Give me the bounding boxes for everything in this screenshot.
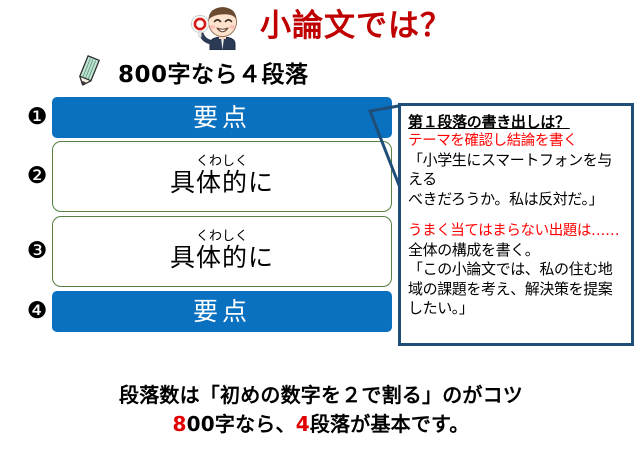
caption-line-1: 段落数は「初めの数字を２で割る」のがコツ (0, 381, 642, 410)
callout-spacer (408, 209, 626, 222)
subtitle-text: 800字なら４段落 (118, 55, 309, 89)
callout-red-note-1: テーマを確認し結論を書く (408, 132, 626, 151)
box-main-label: 具体的に (170, 244, 274, 273)
box-sub-label: くわしく (196, 230, 248, 244)
box-main-label: 具体的に (170, 169, 274, 198)
explanation-callout-box: 第１段落の書き出しは？ テーマを確認し結論を書く 「小学生にスマートフォンを与え… (398, 103, 634, 346)
row-number-badge: ❷ (22, 165, 52, 188)
structure-row-3: ❸ くわしく 具体的に (22, 216, 392, 287)
callout-red-note-2: うまく当てはまらない出題は…… (408, 222, 626, 241)
row-number-badge: ❹ (22, 300, 52, 323)
callout-quote-1-line-1: 「小学生にスマートフォンを与える (408, 151, 626, 190)
callout-heading: 第１段落の書き出しは？ (408, 113, 626, 132)
structure-row-2: ❷ くわしく 具体的に (22, 141, 392, 212)
row-number-badge: ❸ (22, 240, 52, 263)
structure-box-main-point-1[interactable]: 要点 (52, 97, 392, 138)
subtitle-row: 800字なら４段落 (72, 54, 309, 90)
row-number-badge: ❶ (22, 106, 52, 129)
caption-text-a: 00字なら、 (187, 412, 296, 436)
bottom-caption: 段落数は「初めの数字を２で割る」のがコツ 800字なら、4段落が基本です。 (0, 381, 642, 439)
caption-text-b: 段落が基本です。 (310, 412, 470, 436)
caption-line-2: 800字なら、4段落が基本です。 (0, 410, 642, 439)
callout-quote-1-line-2: べきだろうか。私は反対だ。」 (408, 190, 626, 210)
smiling-boy-holding-maru-sign-icon (190, 2, 250, 50)
callout-quote-2-line-3: したい。」 (408, 299, 626, 319)
callout-quote-2-line-2: 域の課題を考え、解決策を提案 (408, 280, 626, 300)
structure-box-main-point-2[interactable]: 要点 (52, 291, 392, 332)
caption-red-eight: 8 (173, 412, 187, 436)
page-title: 小論文では？ (260, 11, 452, 42)
box-sub-label: くわしく (196, 155, 248, 169)
structure-box-detail-2[interactable]: くわしく 具体的に (52, 216, 392, 287)
pencil-icon (72, 55, 104, 89)
structure-row-4: ❹ 要点 (22, 291, 392, 332)
essay-structure-list: ❶ 要点 ❷ くわしく 具体的に ❸ くわしく 具体的に ❹ 要点 (22, 97, 392, 332)
callout-quote-2-line-1: 「この小論文では、私の住む地 (408, 260, 626, 280)
caption-red-four: 4 (296, 412, 310, 436)
structure-row-1: ❶ 要点 (22, 97, 392, 138)
structure-box-detail-1[interactable]: くわしく 具体的に (52, 141, 392, 212)
box-main-label: 要点 (193, 299, 251, 324)
title-row: 小論文では？ (0, 2, 642, 50)
callout-black-note-2: 全体の構成を書く。 (408, 241, 626, 261)
box-main-label: 要点 (193, 105, 251, 130)
slide-canvas: 小論文では？ 800字なら４段落 (0, 0, 642, 457)
